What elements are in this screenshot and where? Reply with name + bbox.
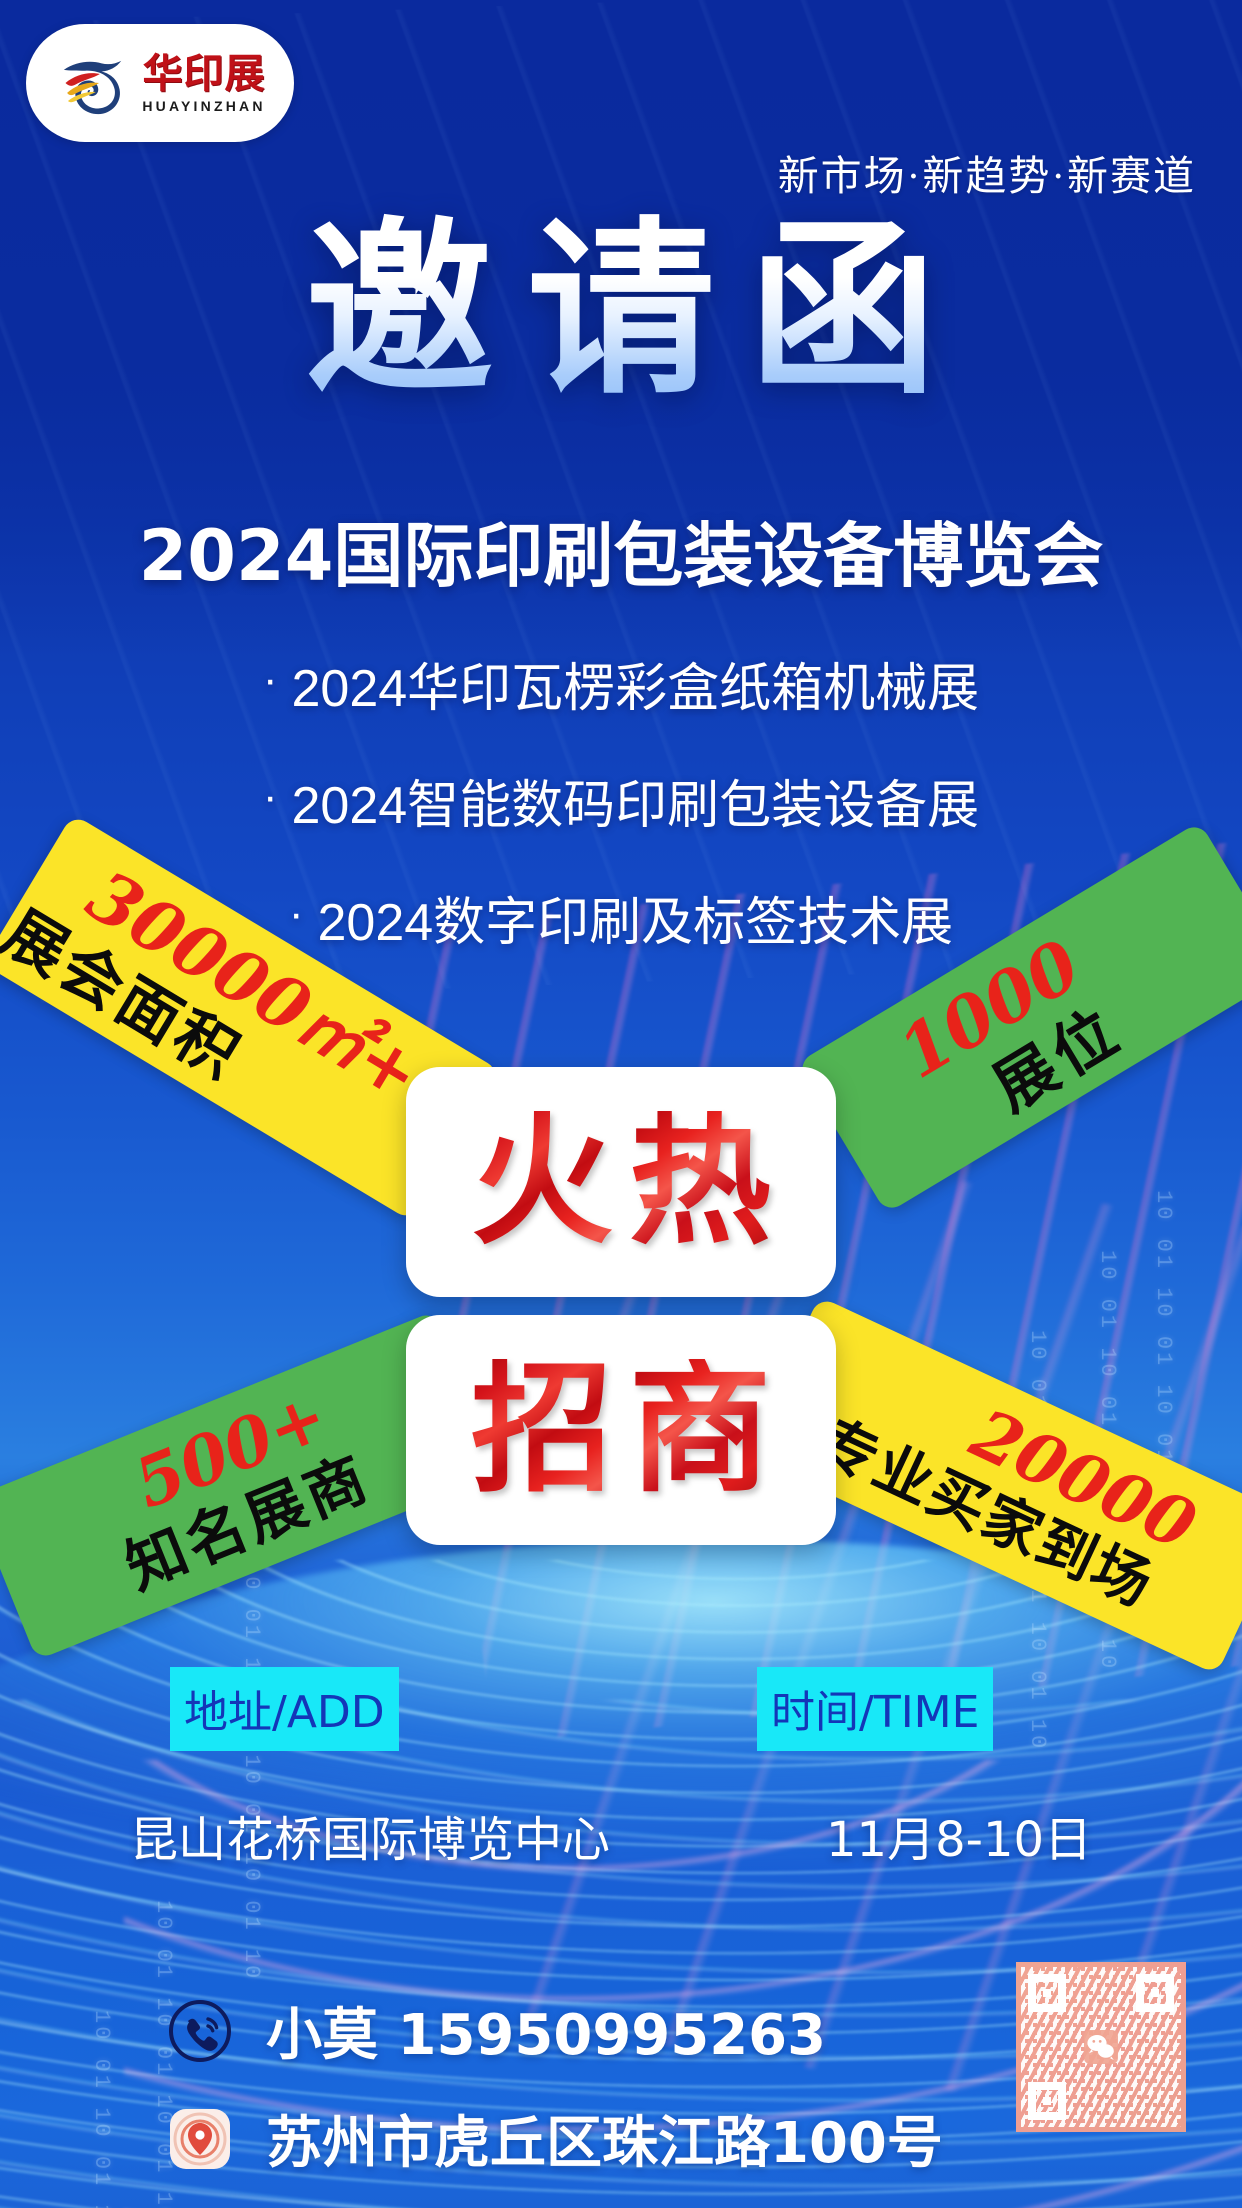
qr-finder-top-right bbox=[1136, 1974, 1174, 2012]
invitation-poster: 10 01 10 01 10 01 10 01 10 10 01 10 01 1… bbox=[0, 0, 1242, 2208]
logo-pinyin: HUAYINZHAN bbox=[142, 99, 265, 113]
page-title: 邀请函 bbox=[0, 206, 1242, 417]
time-label: 时间/TIME bbox=[757, 1667, 993, 1751]
contact-phone-text: 小莫 15950995263 bbox=[266, 1990, 826, 2071]
contact-phone-row[interactable]: 小莫 15950995263 bbox=[168, 1990, 826, 2071]
event-subtitle: 2024国际印刷包装设备博览会 bbox=[0, 500, 1242, 601]
wechat-qr-code[interactable] bbox=[1016, 1962, 1186, 2132]
address-label: 地址/ADD bbox=[170, 1667, 399, 1751]
contact-address-text: 苏州市虎丘区珠江路100号 bbox=[266, 2098, 943, 2179]
contact-address-row[interactable]: 苏州市虎丘区珠江路100号 bbox=[168, 2098, 943, 2179]
list-item: · 2024华印瓦楞彩盒纸箱机械展 bbox=[0, 646, 1242, 721]
highlight-card-hot: 火热 bbox=[406, 1067, 836, 1297]
qr-finder-bottom-left bbox=[1028, 2082, 1066, 2120]
address-value: 昆山花桥国际博览中心 bbox=[130, 1800, 610, 1870]
location-pin-icon bbox=[168, 2107, 232, 2171]
tagline: 新市场·新趋势·新赛道 bbox=[778, 142, 1196, 202]
highlight-card-recruit: 招商 bbox=[406, 1315, 836, 1545]
list-item: · 2024智能数码印刷包装设备展 bbox=[0, 763, 1242, 838]
brand-logo[interactable]: 华印展 HUAYINZHAN bbox=[26, 24, 294, 142]
time-value: 11月8-10日 bbox=[826, 1800, 1092, 1870]
highlight-card-recruit-label: 招商 bbox=[455, 1359, 787, 1501]
bullet-dot-icon: · bbox=[263, 658, 278, 702]
wechat-icon bbox=[1084, 2030, 1118, 2064]
binary-code-column: 10 01 10 01 10 01 10 01 10 bbox=[86, 2010, 116, 2208]
binary-code-column: 10 01 10 01 10 01 10 01 10 bbox=[236, 1560, 266, 1981]
highlight-card-hot-label: 火热 bbox=[455, 1111, 787, 1253]
phone-ringing-icon bbox=[168, 1999, 232, 2063]
qr-finder-top-left bbox=[1028, 1974, 1066, 2012]
logo-chinese-name: 华印展 bbox=[143, 54, 266, 94]
bullet-dot-icon: · bbox=[289, 892, 304, 936]
bullet-dot-icon: · bbox=[263, 775, 278, 819]
list-item-label: 2024华印瓦楞彩盒纸箱机械展 bbox=[291, 646, 979, 721]
list-item-label: 2024智能数码印刷包装设备展 bbox=[291, 763, 979, 838]
list-item-label: 2024数字印刷及标签技术展 bbox=[317, 880, 953, 955]
dragon-logo-icon bbox=[54, 41, 136, 125]
